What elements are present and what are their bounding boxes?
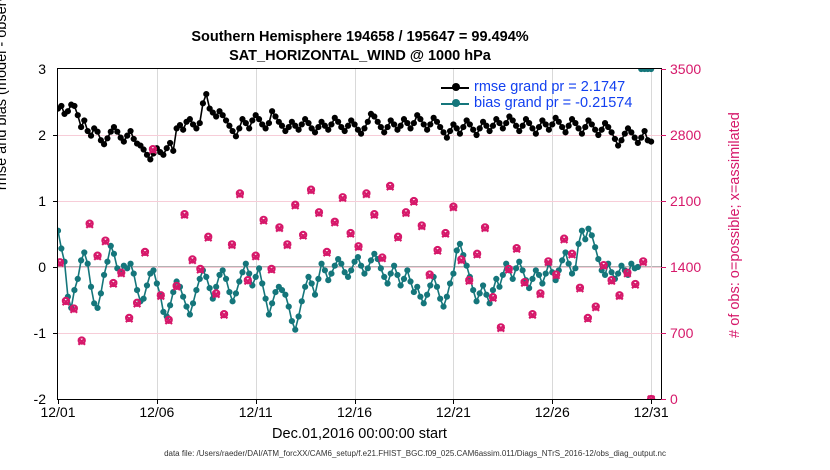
x-axis-tick: 12/01 (23, 404, 93, 420)
y-axis-right-tickmark (661, 333, 666, 334)
chart-title: Southern Hemisphere 194658 / 195647 = 99… (0, 28, 720, 66)
y-axis-right-tick: 1400 (670, 259, 718, 275)
y-axis-right-tickmark (661, 69, 666, 70)
plot-canvas (58, 69, 661, 399)
y-axis-right-tick: 2800 (670, 127, 718, 143)
x-axis-tick: 12/06 (122, 404, 192, 420)
legend-item-bias: bias grand pr = -0.21574 (441, 96, 671, 112)
y-axis-right-label: # of obs: o=possible; x=assimilated (727, 60, 743, 390)
y-axis-right-tickmark (661, 399, 666, 400)
y-axis-left-tickmark (53, 135, 58, 136)
y-axis-right-tickmark (661, 201, 666, 202)
legend-item-rmse: rmse grand pr = 2.1747 (441, 80, 671, 96)
legend-marker-rmse-icon (452, 83, 460, 91)
y-axis-left-tickmark (53, 333, 58, 334)
x-axis-tick: 12/16 (320, 404, 390, 420)
x-axis-tick: 12/26 (517, 404, 587, 420)
y-axis-right-tickmark (661, 135, 666, 136)
y-axis-left-tick: 1 (0, 193, 46, 209)
y-axis-left-tickmark (53, 267, 58, 268)
x-axis-tick: 12/11 (221, 404, 291, 420)
data-file-footnote: data file: /Users/raeder/DAI/ATM_forcXX/… (0, 449, 830, 458)
x-axis-tick: 12/21 (418, 404, 488, 420)
y-axis-right-tick: 700 (670, 325, 718, 341)
y-axis-left-tick: -1 (0, 325, 46, 341)
y-axis-left-tick: 2 (0, 127, 46, 143)
chart-title-line1: Southern Hemisphere 194658 / 195647 = 99… (0, 28, 720, 47)
chart-legend: rmse grand pr = 2.1747 bias grand pr = -… (441, 80, 671, 112)
chart-title-line2: SAT_HORIZONTAL_WIND @ 1000 hPa (0, 47, 720, 66)
legend-marker-bias-icon (452, 99, 460, 107)
legend-label-bias: bias grand pr = -0.21574 (474, 95, 632, 111)
y-axis-left-tick: 3 (0, 61, 46, 77)
y-axis-right-tickmark (661, 267, 666, 268)
chart-page: Southern Hemisphere 194658 / 195647 = 99… (0, 0, 830, 470)
plot-area (57, 68, 662, 400)
x-axis-tick: 12/31 (616, 404, 686, 420)
y-axis-left-tick: 0 (0, 259, 46, 275)
y-axis-right-tick: 3500 (670, 61, 718, 77)
legend-label-rmse: rmse grand pr = 2.1747 (474, 79, 625, 95)
y-axis-right-tick: 2100 (670, 193, 718, 209)
y-axis-left-tickmark (53, 201, 58, 202)
data-series-layer (58, 69, 661, 399)
x-axis-label: Dec.01,2016 00:00:00 start (57, 426, 662, 442)
